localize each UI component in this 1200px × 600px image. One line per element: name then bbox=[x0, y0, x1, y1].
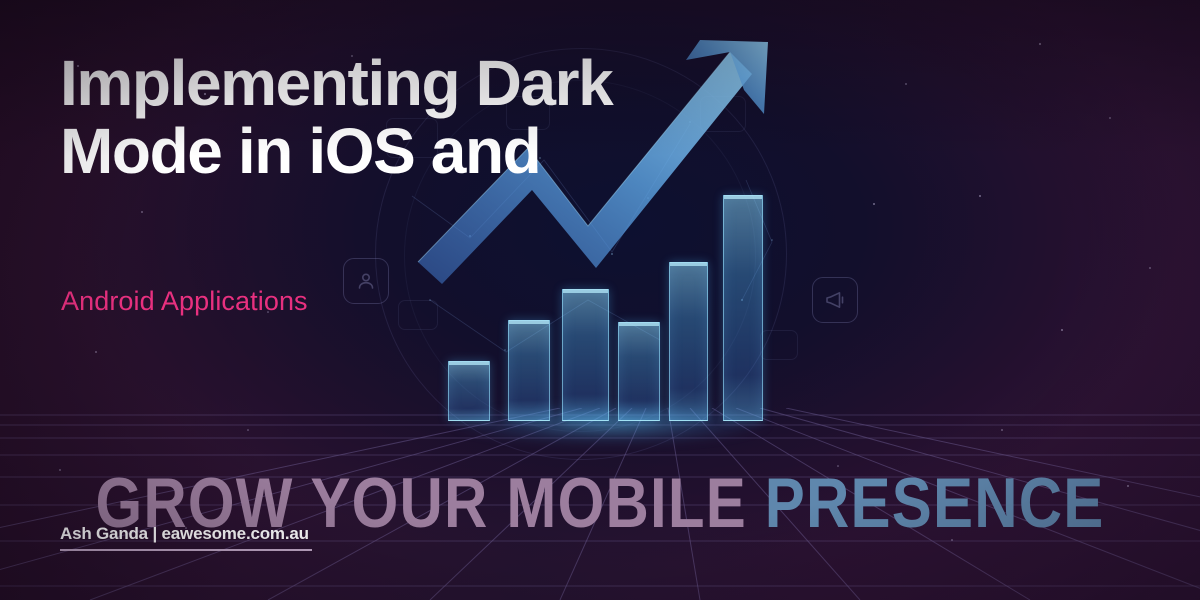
chart-bar bbox=[562, 289, 609, 421]
megaphone-icon bbox=[812, 277, 858, 323]
page-subtitle: Android Applications bbox=[61, 286, 308, 317]
blog-header-banner: Implementing Dark Mode in iOS and Androi… bbox=[0, 0, 1200, 600]
byline-block: Ash Ganda | eawesome.com.au bbox=[60, 524, 312, 551]
chart-bar bbox=[618, 322, 660, 421]
tagline-part-2: PRESENCE bbox=[765, 463, 1105, 542]
user-profile-icon bbox=[343, 258, 389, 304]
chart-bar bbox=[669, 262, 708, 421]
chart-bar bbox=[508, 320, 550, 421]
page-title: Implementing Dark Mode in iOS and bbox=[60, 50, 760, 186]
byline-underline bbox=[60, 549, 312, 551]
chart-bar bbox=[448, 361, 490, 421]
byline-text: Ash Ganda | eawesome.com.au bbox=[60, 524, 312, 544]
chart-bar bbox=[723, 195, 763, 421]
